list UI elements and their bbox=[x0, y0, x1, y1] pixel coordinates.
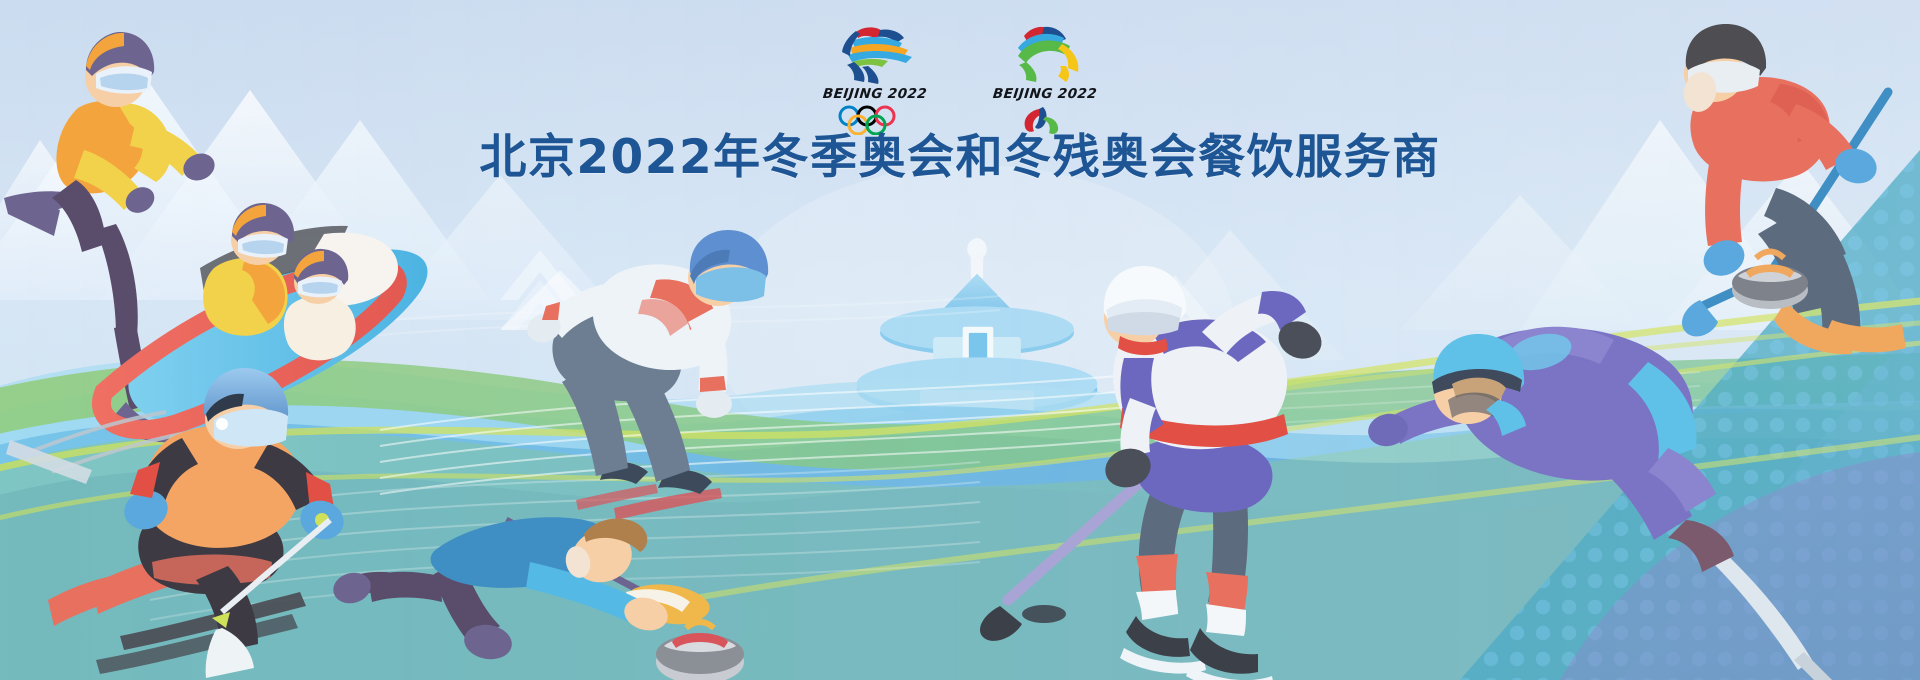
olympic-emblem-mark bbox=[821, 22, 929, 84]
paralympic-winter-games-emblem[interactable]: BEIJING 2022 bbox=[991, 22, 1099, 135]
athlete-curler-sliding bbox=[330, 517, 744, 680]
athlete-ice-hockey-player bbox=[980, 266, 1327, 680]
beijing-2022-catering-banner: BEIJING 2022 bbox=[0, 0, 1920, 680]
paralympic-emblem-wordmark: BEIJING 2022 bbox=[990, 86, 1100, 102]
page-title: 北京2022年冬季奥会和冬残奥会餐饮服务商 bbox=[479, 133, 1440, 183]
paralympic-emblem-mark bbox=[991, 22, 1099, 84]
olympic-winter-games-emblem[interactable]: BEIJING 2022 bbox=[821, 22, 929, 135]
curling-stone bbox=[656, 622, 744, 680]
emblem-bar: BEIJING 2022 bbox=[0, 22, 1920, 135]
athlete-speed-skater-left bbox=[523, 230, 768, 520]
title-wrap: 北京2022年冬季奥会和冬残奥会餐饮服务商 bbox=[0, 133, 1920, 183]
athlete-speed-skater-right bbox=[1365, 327, 1836, 680]
olympic-emblem-wordmark: BEIJING 2022 bbox=[820, 86, 930, 102]
